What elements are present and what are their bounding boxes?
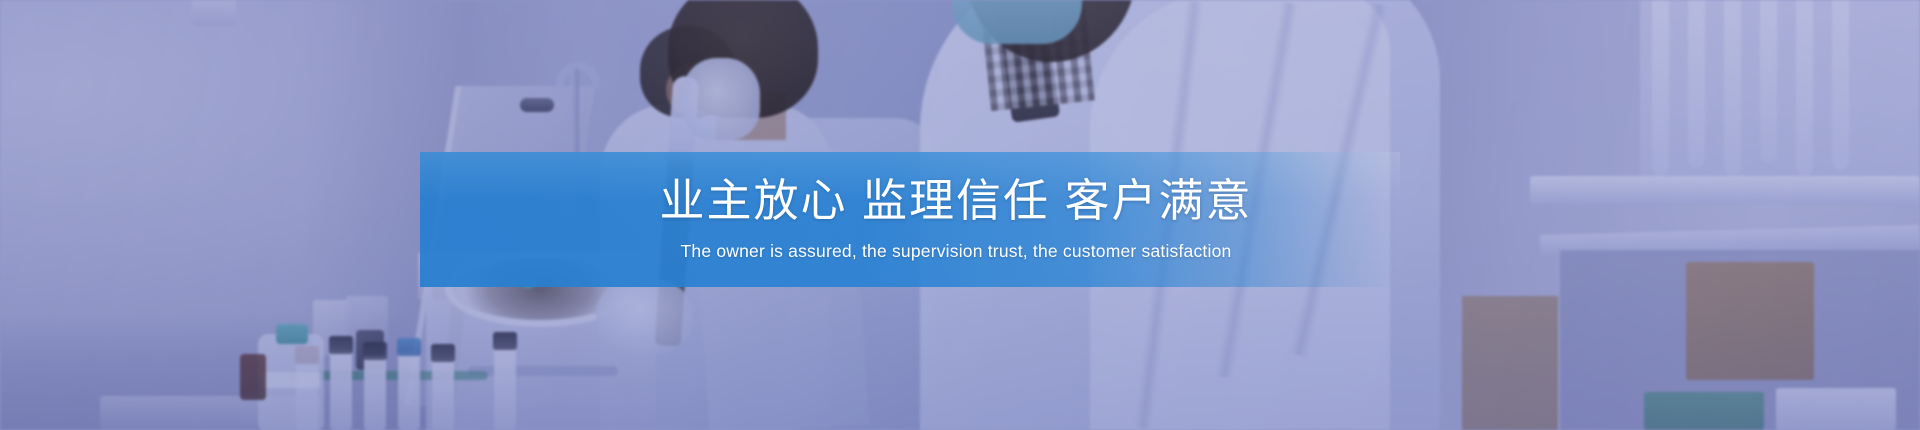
banner-text-block: 业主放心 监理信任 客户满意 The owner is assured, the… xyxy=(420,152,1400,287)
banner-subheadline: The owner is assured, the supervision tr… xyxy=(681,240,1232,263)
hero-banner: 业主放心 监理信任 客户满意 The owner is assured, the… xyxy=(0,0,1920,430)
banner-headline: 业主放心 监理信任 客户满意 xyxy=(659,176,1252,226)
